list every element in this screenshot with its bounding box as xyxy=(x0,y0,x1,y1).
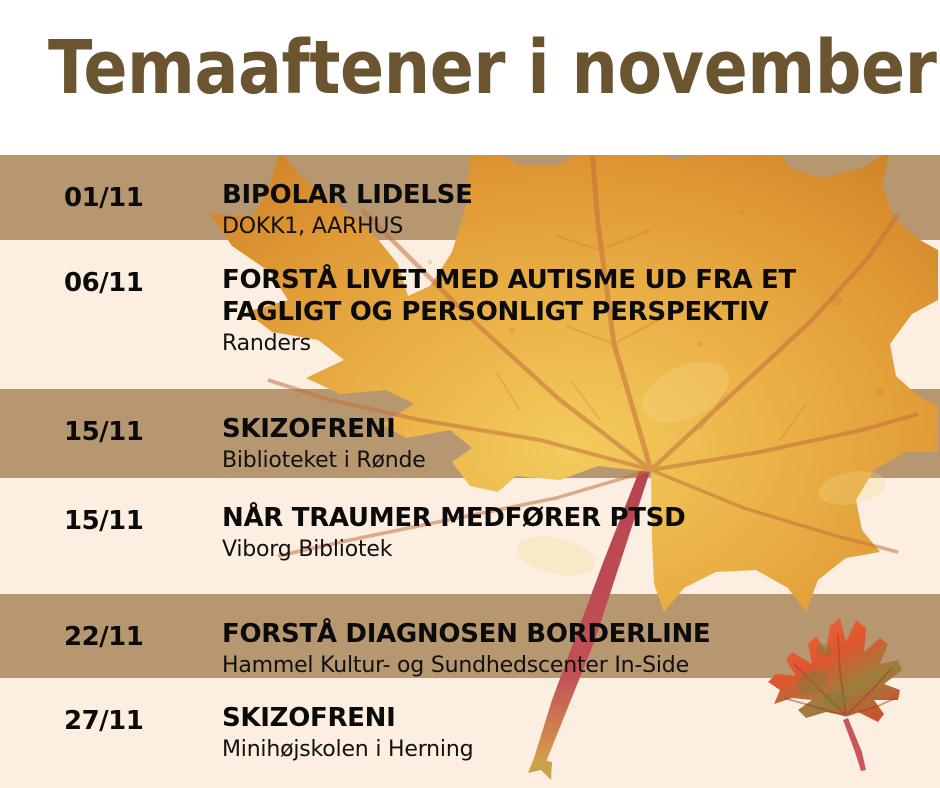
row-date: 01/11 xyxy=(64,183,143,213)
row-body: BIPOLAR LIDELSEDOKK1, AARHUS xyxy=(222,179,930,241)
schedule-row[interactable]: 15/11SKIZOFRENIBiblioteket i Rønde xyxy=(0,389,940,478)
row-body: SKIZOFRENIMinihøjskolen i Herning xyxy=(222,702,930,764)
row-title: NÅR TRAUMER MEDFØRER PTSD xyxy=(222,502,930,534)
row-date: 15/11 xyxy=(64,417,143,447)
row-venue: Viborg Bibliotek xyxy=(222,536,930,564)
title-bar: Temaaftener i november xyxy=(0,0,940,155)
row-date: 06/11 xyxy=(64,268,143,298)
row-title: FORSTÅ DIAGNOSEN BORDERLINE xyxy=(222,618,930,650)
poster-canvas: Temaaftener i november 01/11BIPOLAR LIDE… xyxy=(0,0,940,788)
page-title: Temaaftener i november xyxy=(48,26,936,110)
row-title-line2: FAGLIGT OG PERSONLIGT PERSPEKTIV xyxy=(222,296,930,328)
row-date: 15/11 xyxy=(64,506,143,536)
row-venue: Minihøjskolen i Herning xyxy=(222,736,930,764)
row-venue: Biblioteket i Rønde xyxy=(222,447,930,475)
schedule-row[interactable]: 22/11FORSTÅ DIAGNOSEN BORDERLINEHammel K… xyxy=(0,594,940,678)
row-body: NÅR TRAUMER MEDFØRER PTSDViborg Bibliote… xyxy=(222,502,930,564)
row-venue: Randers xyxy=(222,330,930,358)
row-date: 22/11 xyxy=(64,622,143,652)
row-title: SKIZOFRENI xyxy=(222,702,930,734)
row-date: 27/11 xyxy=(64,706,143,736)
row-venue: DOKK1, AARHUS xyxy=(222,213,930,241)
row-body: FORSTÅ LIVET MED AUTISME UD FRA ETFAGLIG… xyxy=(222,264,930,358)
schedule-row[interactable]: 06/11FORSTÅ LIVET MED AUTISME UD FRA ETF… xyxy=(0,240,940,389)
schedule-row[interactable]: 01/11BIPOLAR LIDELSEDOKK1, AARHUS xyxy=(0,155,940,240)
row-title: FORSTÅ LIVET MED AUTISME UD FRA ET xyxy=(222,264,930,296)
row-body: FORSTÅ DIAGNOSEN BORDERLINEHammel Kultur… xyxy=(222,618,930,680)
row-venue: Hammel Kultur- og Sundhedscenter In-Side xyxy=(222,652,930,680)
row-title: SKIZOFRENI xyxy=(222,413,930,445)
row-body: SKIZOFRENIBiblioteket i Rønde xyxy=(222,413,930,475)
schedule-row[interactable]: 27/11SKIZOFRENIMinihøjskolen i Herning xyxy=(0,678,940,788)
schedule-row[interactable]: 15/11NÅR TRAUMER MEDFØRER PTSDViborg Bib… xyxy=(0,478,940,594)
row-title: BIPOLAR LIDELSE xyxy=(222,179,930,211)
